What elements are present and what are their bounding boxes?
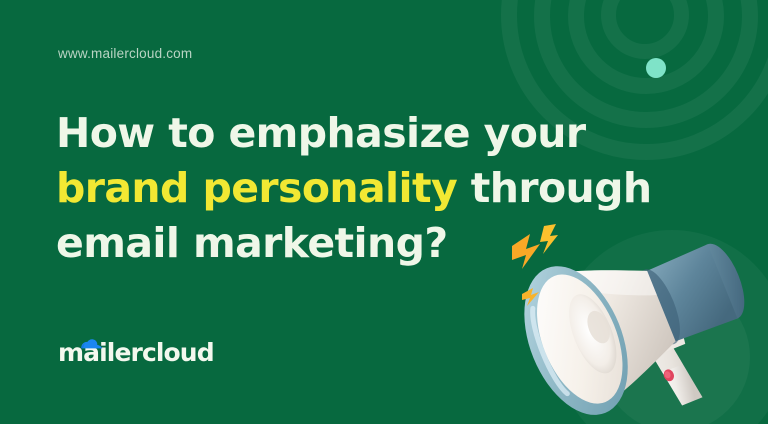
sound-bolts-icon [500,222,580,312]
logo-wordmark: mailercloud [58,338,214,367]
headline-line-2-rest: through [457,164,651,212]
brand-logo[interactable]: mailercloud [58,333,214,373]
promo-banner: www.mailercloud.com How to emphasize you… [0,0,768,424]
mint-dot-accent [646,58,666,78]
headline-line-3: email marketing? [56,219,448,267]
site-url: www.mailercloud.com [58,46,192,61]
headline-line-1: How to emphasize your [56,109,586,157]
headline-accent-phrase: brand personality [56,164,457,212]
